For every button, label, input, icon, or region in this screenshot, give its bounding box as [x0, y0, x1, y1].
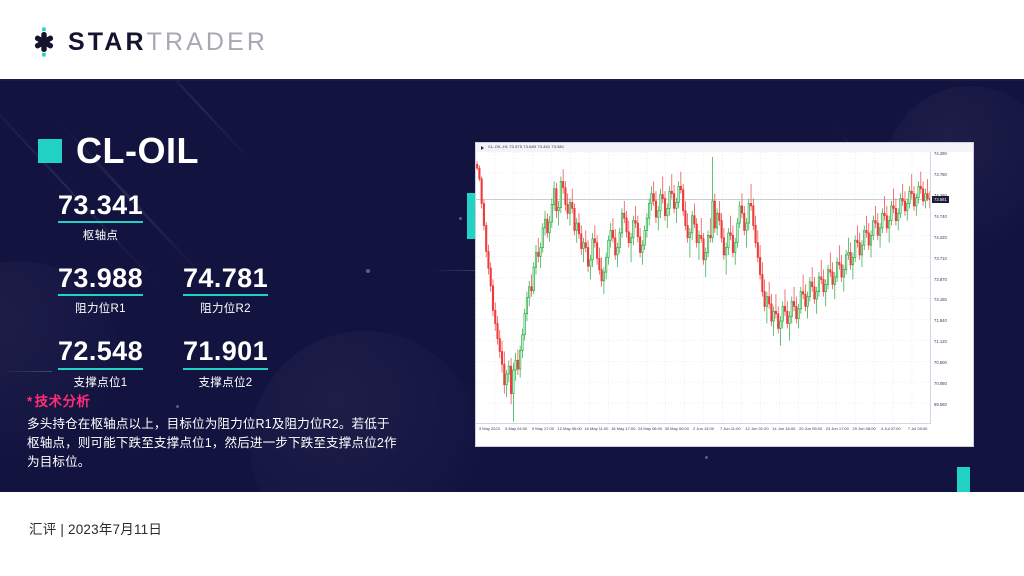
- level-r1: 73.988 阻力位R1: [38, 263, 163, 316]
- level-pivot: 73.341 枢轴点: [38, 190, 163, 243]
- price-tick-label: 74.740: [934, 215, 947, 219]
- bracket-bottom-right-vertical: [957, 467, 970, 492]
- time-tick-label: 12 Jun 01:00: [745, 426, 768, 431]
- time-tick-label: 5 May 04:00: [505, 426, 527, 431]
- price-tick-label: 71.840: [934, 319, 947, 323]
- time-tick-label: 20 Jun 05:00: [799, 426, 822, 431]
- pivot-levels: 73.341 枢轴点 73.988 阻力位R1 74.781 阻力位R2 72.…: [38, 190, 288, 390]
- time-tick-label: 3 May 2023: [479, 426, 500, 431]
- level-value: 72.548: [58, 336, 143, 369]
- price-tick-label: 70.600: [934, 361, 947, 365]
- instrument-title: CL-OIL: [38, 133, 199, 169]
- analysis-block: *技术分析 多头持仓在枢轴点以上，目标位为阻力位R1及阻力位R2。若低于枢轴点，…: [27, 390, 399, 472]
- chart-price-axis[interactable]: 74.29073.78074.26074.74074.22073.71073.8…: [930, 152, 973, 424]
- time-tick-label: 4 Jul 07:00: [881, 426, 901, 431]
- price-tick-label: 73.780: [934, 173, 947, 177]
- price-tick-label: 71.120: [934, 340, 947, 344]
- time-tick-label: 9 May 17:00: [532, 426, 554, 431]
- time-tick-label: 29 Jun 08:00: [853, 426, 876, 431]
- brand-name-light: TRADER: [147, 28, 268, 56]
- price-tick-label: 73.710: [934, 257, 947, 261]
- level-label: 支撑点位1: [38, 374, 163, 390]
- level-label: 阻力位R2: [163, 300, 288, 316]
- level-value: 71.901: [183, 336, 268, 369]
- analysis-heading-text: 技术分析: [35, 394, 91, 409]
- chart-collapse-icon[interactable]: [481, 146, 484, 150]
- level-value: 73.988: [58, 263, 143, 296]
- price-tick-label: 74.290: [934, 152, 947, 156]
- brand-name-bold: STAR: [68, 28, 147, 56]
- level-value: 73.341: [58, 190, 143, 223]
- page-footer: 汇评 | 2023年7月11日: [0, 492, 1024, 576]
- level-value: 74.781: [183, 263, 268, 296]
- analysis-body: 多头持仓在枢轴点以上，目标位为阻力位R1及阻力位R2。若低于枢轴点，则可能下跌至…: [27, 415, 399, 472]
- current-price-badge: 73.581: [932, 196, 949, 203]
- level-r2: 74.781 阻力位R2: [163, 263, 288, 316]
- time-tick-label: 2 Jun 13:00: [693, 426, 714, 431]
- price-tick-label: 70.080: [934, 382, 947, 386]
- price-tick-label: 73.160: [934, 298, 947, 302]
- page-header: STARTRADER: [0, 0, 1024, 81]
- six-point-star-icon: [29, 27, 59, 57]
- analysis-heading: *技术分析: [27, 390, 399, 410]
- chart-title: CL-OIL,H1 73.575 73.683 73.451 73.581: [488, 144, 564, 149]
- time-tick-label: 7 Jul 05:00: [908, 426, 928, 431]
- time-tick-label: 7 Jun 11:00: [720, 426, 741, 431]
- level-s1: 72.548 支撑点位1: [38, 336, 163, 389]
- title-accent-square: [38, 139, 62, 163]
- time-tick-label: 16 May 11:00: [584, 426, 608, 431]
- time-tick-label: 14 Jun 16:00: [772, 426, 795, 431]
- time-tick-label: 23 Jun 17:00: [826, 426, 849, 431]
- time-tick-label: 18 May 17:00: [611, 426, 635, 431]
- level-label: 阻力位R1: [38, 300, 163, 316]
- poster-root: STARTRADER: [0, 0, 1024, 576]
- level-label: 枢轴点: [38, 227, 163, 243]
- footer-caption: 汇评 | 2023年7月11日: [29, 518, 162, 538]
- price-tick-label: 69.560: [934, 403, 947, 407]
- chart-plot-area[interactable]: [476, 152, 931, 424]
- time-tick-label: 12 May 06:00: [558, 426, 582, 431]
- time-tick-label: 24 May 06:00: [638, 426, 662, 431]
- price-chart[interactable]: CL-OIL,H1 73.575 73.683 73.451 73.581 74…: [476, 143, 973, 446]
- level-label: 支撑点位2: [163, 374, 288, 390]
- price-tick-label: 73.870: [934, 278, 947, 282]
- price-tick-label: 74.220: [934, 236, 947, 240]
- level-s2: 71.901 支撑点位2: [163, 336, 288, 389]
- chart-time-axis[interactable]: 3 May 20235 May 04:009 May 17:0012 May 0…: [476, 423, 931, 446]
- asterisk-icon: *: [27, 394, 33, 409]
- time-tick-label: 30 May 00:00: [665, 426, 689, 431]
- brand-logo: STARTRADER: [29, 27, 268, 57]
- page-title: CL-OIL: [76, 133, 199, 169]
